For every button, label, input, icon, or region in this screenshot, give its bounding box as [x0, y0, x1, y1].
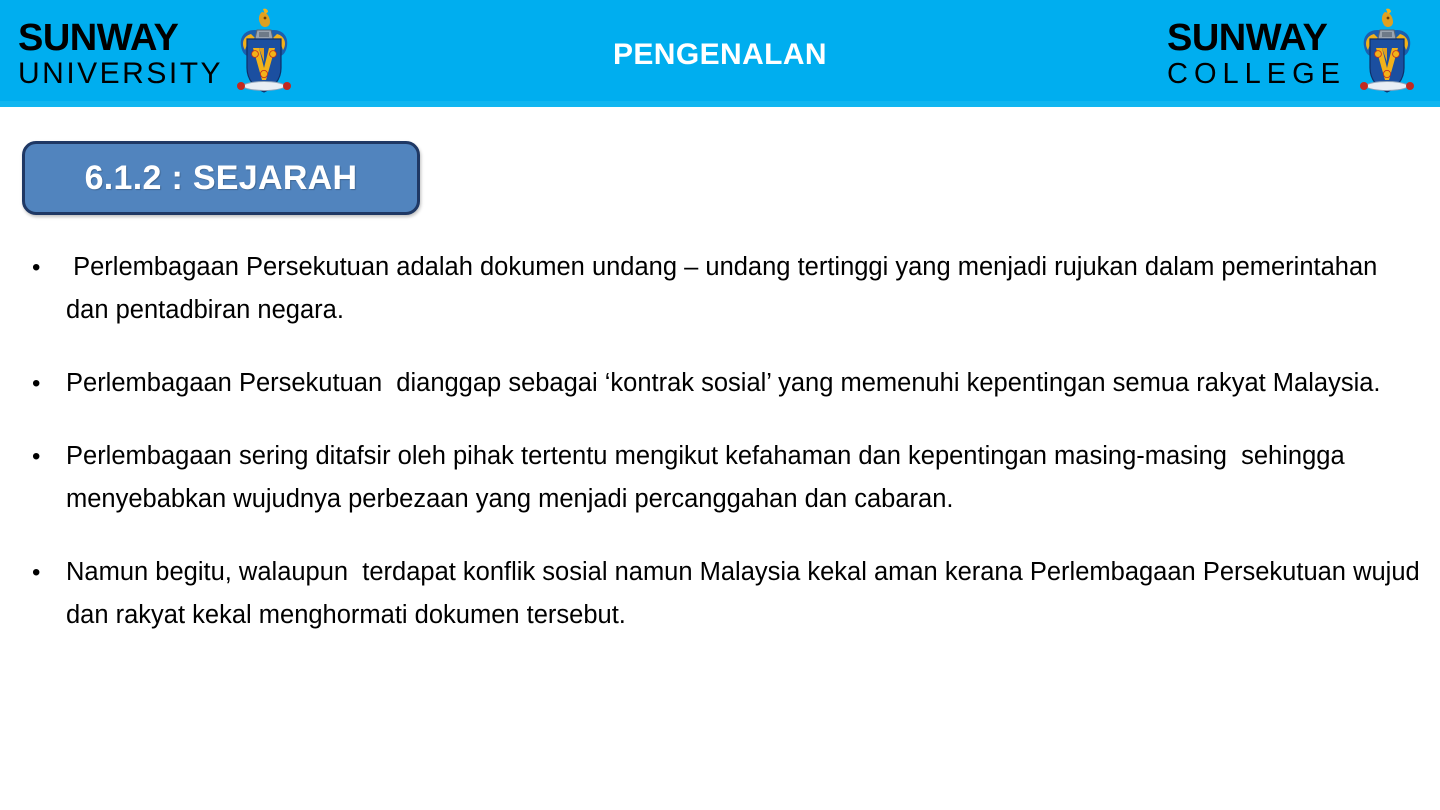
list-item: • Namun begitu, walaupun terdapat konfli… [22, 551, 1422, 637]
sunway-university-logo: SUNWAY UNIVERSITY [18, 6, 299, 102]
sunway-crest-icon [229, 6, 299, 102]
wordmark-line-sunway: SUNWAY [1167, 18, 1346, 58]
wordmark-line-university: UNIVERSITY [18, 58, 223, 90]
bullet-marker-icon: • [22, 362, 66, 405]
section-title-text: 6.1.2 : SEJARAH [85, 159, 358, 198]
wordmark-line-college: COLLEGE [1167, 58, 1346, 90]
section-title-box: 6.1.2 : SEJARAH [22, 141, 420, 215]
list-item: • Perlembagaan sering ditafsir oleh piha… [22, 435, 1422, 521]
sunway-crest-icon [1352, 6, 1422, 102]
bullet-marker-icon: • [22, 246, 66, 289]
list-item-text: Perlembagaan sering ditafsir oleh pihak … [66, 435, 1422, 521]
sunway-college-wordmark: SUNWAY COLLEGE [1167, 18, 1346, 90]
header-band: PENGENALAN SUNWAY UNIVERSITY [0, 0, 1440, 107]
list-item: • Perlembagaan Persekutuan dianggap seba… [22, 362, 1422, 405]
list-item-text: Namun begitu, walaupun terdapat konflik … [66, 551, 1422, 637]
bullet-list: • Perlembagaan Persekutuan adalah dokume… [22, 246, 1422, 667]
bullet-marker-icon: • [22, 435, 66, 478]
bullet-marker-icon: • [22, 551, 66, 594]
sunway-university-wordmark: SUNWAY UNIVERSITY [18, 18, 223, 90]
list-item-text: Perlembagaan Persekutuan adalah dokumen … [66, 246, 1422, 332]
list-item: • Perlembagaan Persekutuan adalah dokume… [22, 246, 1422, 332]
list-item-text: Perlembagaan Persekutuan dianggap sebaga… [66, 362, 1422, 405]
sunway-college-logo: SUNWAY COLLEGE [1167, 6, 1422, 102]
wordmark-line-sunway: SUNWAY [18, 18, 223, 58]
slide: PENGENALAN SUNWAY UNIVERSITY [0, 0, 1440, 810]
